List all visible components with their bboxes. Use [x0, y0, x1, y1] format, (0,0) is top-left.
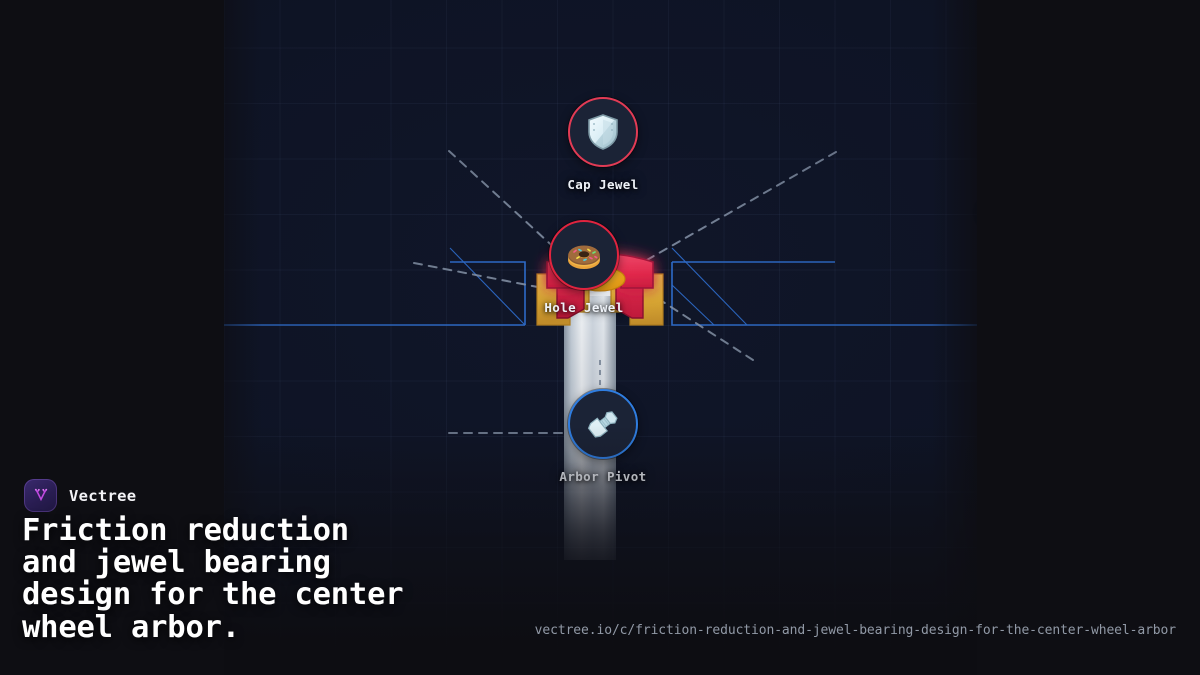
node-label: Hole Jewel [544, 300, 623, 315]
page-title: Friction reduction and jewel bearing des… [22, 515, 622, 644]
brand: Vectree [24, 479, 136, 512]
node-label: Cap Jewel [567, 177, 638, 192]
brand-name: Vectree [69, 487, 136, 505]
shield-icon [583, 112, 623, 152]
node-bubble[interactable] [549, 220, 619, 290]
node-chaton-setting[interactable]: Chaton Setting [965, 323, 977, 418]
node-bubble[interactable] [568, 97, 638, 167]
node-lubrication[interactable]: Lubrication [947, 125, 977, 220]
node-arbor-pivot[interactable]: Arbor Pivot [523, 389, 683, 484]
node-bubble[interactable] [568, 389, 638, 459]
share-url: vectree.io/c/friction-reduction-and-jewe… [535, 623, 1176, 638]
donut-icon [564, 235, 604, 275]
share-card: Cap Jewel [0, 0, 1200, 675]
node-cap-jewel[interactable]: Cap Jewel [523, 97, 683, 192]
node-hole-jewel[interactable]: Hole Jewel [504, 220, 664, 315]
node-label: Arbor Pivot [559, 469, 646, 484]
vectree-logo-icon [24, 479, 57, 512]
nut-and-bolt-icon [583, 404, 623, 444]
